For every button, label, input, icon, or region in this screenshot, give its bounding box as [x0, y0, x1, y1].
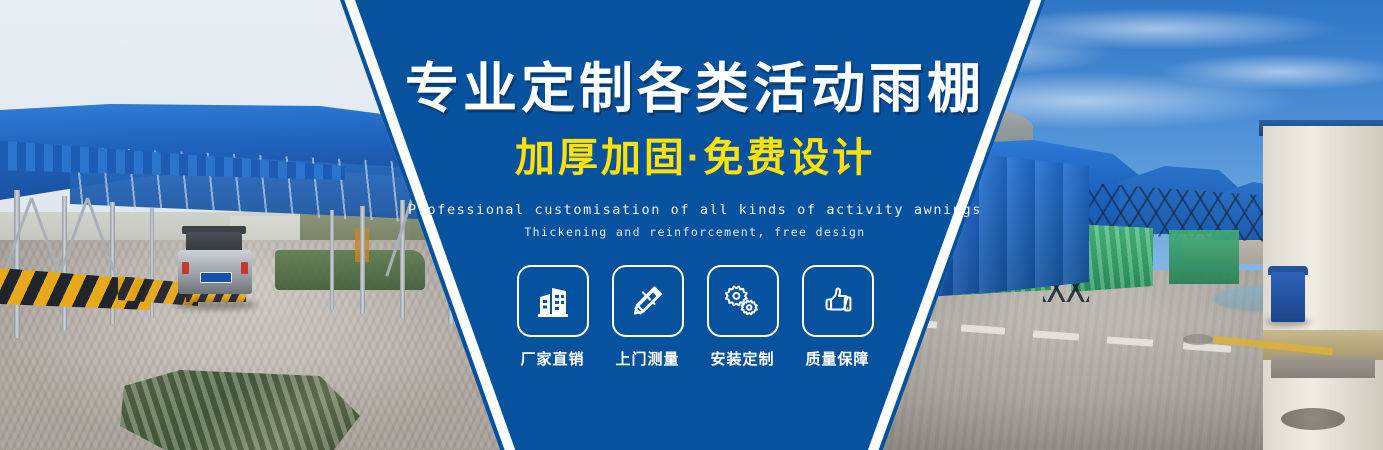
left-photo-truck [178, 232, 252, 306]
right-photo-green-tarp [1169, 230, 1239, 284]
feature-label: 安装定制 [710, 348, 774, 369]
truck-taillight [241, 262, 248, 274]
gears-icon [725, 283, 761, 319]
feature-badge-list: 厂家直销 上门测量 [519, 265, 872, 369]
canopy-post [330, 210, 334, 310]
feature-icon-box [707, 265, 779, 337]
right-photo-manhole [1183, 334, 1213, 345]
canopy-post [360, 206, 365, 314]
right-photo-building-step [1271, 356, 1375, 378]
canopy-post [14, 190, 20, 338]
feature-icon-box [517, 265, 589, 337]
truck-shadow [174, 300, 258, 310]
truck-license-plate [200, 272, 232, 283]
left-photo-ground-tarp [120, 370, 360, 450]
feature-label: 质量保障 [805, 348, 869, 369]
right-photo-blue-curtain [979, 154, 1089, 294]
promo-banner: 专业定制各类活动雨棚 加厚加固·免费设计 Professional custom… [0, 0, 1383, 450]
right-photo-dumpster [1271, 272, 1305, 322]
factory-building-icon [535, 283, 571, 319]
banner-content: 专业定制各类活动雨棚 加厚加固·免费设计 Professional custom… [415, 0, 975, 450]
feature-label: 上门测量 [615, 348, 679, 369]
feature-label: 厂家直销 [520, 348, 584, 369]
pencil-ruler-icon [630, 283, 666, 319]
feature-badge-factory-direct-sales[interactable]: 厂家直销 [519, 265, 587, 369]
feature-icon-box [802, 265, 874, 337]
right-photo-manhole [1281, 408, 1345, 430]
feature-badge-quality-guarantee[interactable]: 质量保障 [804, 265, 872, 369]
page-title: 专业定制各类活动雨棚 [405, 62, 985, 116]
feature-icon-box [612, 265, 684, 337]
subtitle: 加厚加固·免费设计 [515, 138, 875, 178]
feature-badge-onsite-measurement[interactable]: 上门测量 [614, 265, 682, 369]
truck-taillight [182, 262, 189, 274]
english-tagline-secondary: Thickening and reinforcement, free desig… [524, 225, 865, 239]
feature-badge-installation-customisation[interactable]: 安装定制 [709, 265, 777, 369]
english-tagline-primary: Professional customisation of all kinds … [408, 202, 982, 218]
thumbs-up-icon [820, 283, 856, 319]
